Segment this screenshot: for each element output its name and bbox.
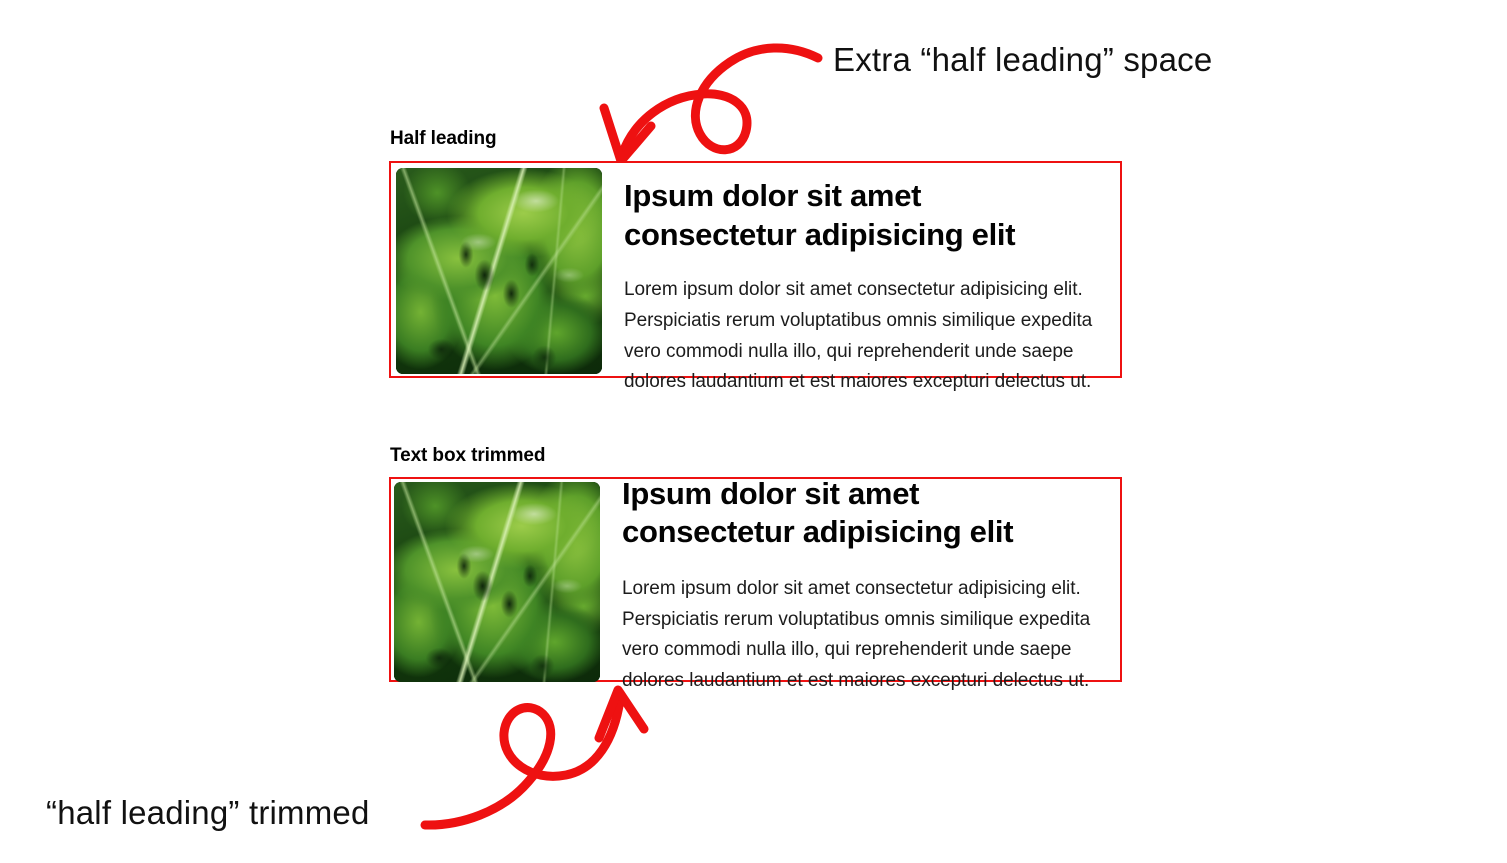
card-image-text-box-trimmed [394, 482, 600, 682]
section-label-text-box-trimmed: Text box trimmed [390, 445, 545, 467]
curved-loop-arrow-up-right-icon [425, 690, 644, 825]
diagram-canvas: Extra “half leading” space “half leading… [0, 0, 1507, 863]
curved-loop-arrow-down-left-icon [604, 48, 818, 161]
card-image-half-leading [396, 168, 602, 374]
card-half-leading: Ipsum dolor sit amet consectetur adipisi… [389, 161, 1122, 378]
card-paragraph: Lorem ipsum dolor sit amet consectetur a… [622, 574, 1115, 697]
annotation-top-label: Extra “half leading” space [833, 41, 1212, 79]
card-body-half-leading: Ipsum dolor sit amet consectetur adipisi… [602, 168, 1115, 398]
card-heading: Ipsum dolor sit amet consectetur adipisi… [624, 176, 1064, 254]
section-label-half-leading: Half leading [390, 128, 496, 150]
leaf-highlight-overlay [396, 168, 602, 374]
card-text-box-trimmed: Ipsum dolor sit amet consectetur adipisi… [389, 477, 1122, 682]
annotation-arrows-layer [0, 0, 1507, 863]
card-heading: Ipsum dolor sit amet consectetur adipisi… [622, 475, 1062, 552]
leaf-highlight-overlay [394, 482, 600, 682]
card-paragraph: Lorem ipsum dolor sit amet consectetur a… [624, 275, 1115, 398]
annotation-bottom-label: “half leading” trimmed [46, 794, 370, 832]
card-body-text-box-trimmed: Ipsum dolor sit amet consectetur adipisi… [600, 482, 1115, 697]
